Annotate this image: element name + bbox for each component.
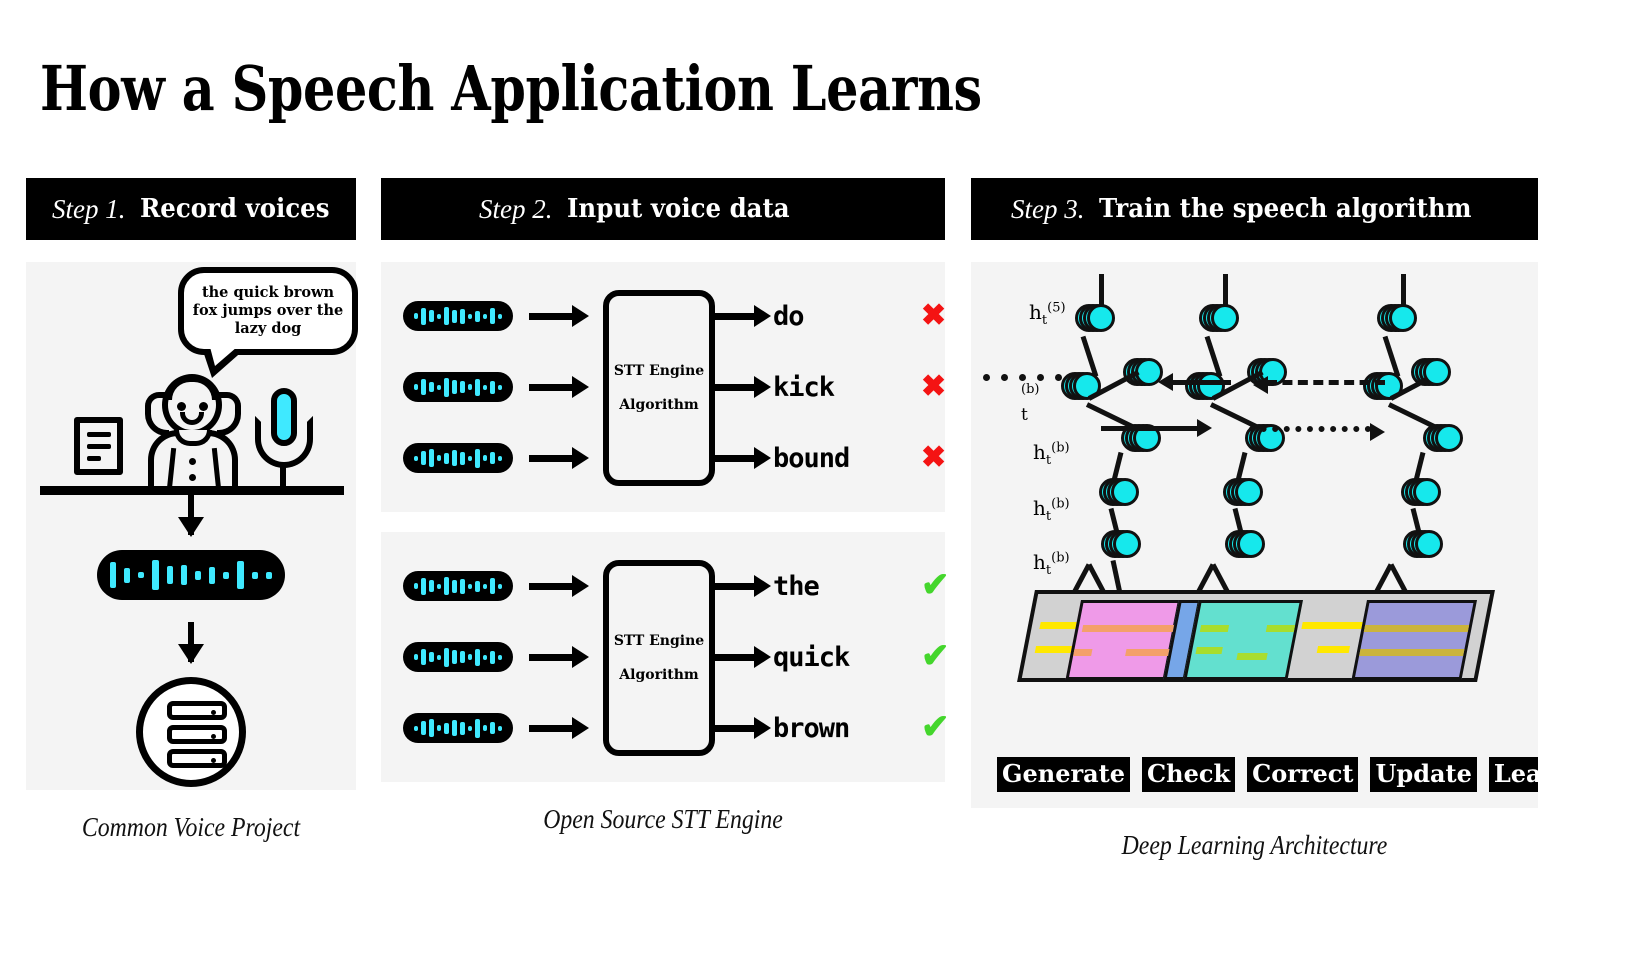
nn-node-cluster — [1185, 372, 1219, 406]
transcribed-word: do — [773, 301, 921, 332]
down-arrow-to-waveform — [188, 495, 194, 535]
forward-dotted-arrow — [1249, 426, 1371, 432]
audio-waveform-icon — [403, 642, 513, 672]
microphone-arc — [255, 416, 313, 468]
status-badge-correct: ✔ — [921, 640, 950, 674]
microphone-icon — [254, 388, 314, 488]
person-speaking-icon — [144, 374, 242, 490]
spectro-line — [1073, 649, 1092, 656]
nn-node-cluster — [1377, 304, 1411, 338]
spectro-line — [1359, 649, 1464, 656]
spectro-line — [1039, 622, 1076, 629]
audio-waveform-icon — [97, 550, 285, 600]
nn-edge — [1383, 336, 1401, 377]
arrow-to-engine — [529, 725, 575, 732]
step-1-caption: Common Voice Project — [46, 812, 336, 843]
layer-label-hb-3: ht(b) — [1033, 550, 1070, 578]
nn-node-cluster — [1101, 530, 1135, 564]
layer-label-hb-1: ht(b) — [1033, 440, 1070, 468]
nn-edge — [1081, 336, 1099, 377]
arrow-to-engine — [529, 384, 575, 391]
audio-waveform-icon — [403, 443, 513, 473]
status-badge-incorrect: ✖ — [921, 372, 946, 402]
audio-waveform-icon — [403, 713, 513, 743]
step-3-header: Step 3. Train the speech algorithm — [971, 178, 1538, 240]
database-drawer-3 — [167, 749, 227, 768]
spectro-segment-pink — [1065, 600, 1181, 680]
arrow-to-output — [711, 455, 757, 462]
training-stage-labels: Generate Check Correct Update Learn — [997, 757, 1538, 792]
training-stage-update: Update — [1370, 757, 1476, 792]
nn-node-cluster — [1223, 478, 1257, 512]
incorrect-transcriptions-panel: STT Engine Algorithm do ✖ — [381, 262, 945, 512]
step-2-number: Step 2. — [479, 194, 553, 225]
arrow-to-engine — [529, 654, 575, 661]
nn-node-cluster — [1225, 530, 1259, 564]
spectro-line — [1125, 649, 1170, 656]
transcribed-word: brown — [773, 713, 921, 744]
arrow-to-output — [711, 583, 757, 590]
transcription-row: quick ✔ — [403, 633, 943, 681]
transcription-row: the ✔ — [403, 562, 943, 610]
database-drawer-2 — [167, 725, 227, 744]
transcribed-word: quick — [773, 642, 921, 673]
audio-waveform-icon — [403, 571, 513, 601]
status-badge-correct: ✔ — [921, 711, 950, 745]
nn-node-cluster — [1401, 478, 1435, 512]
step-2-header: Step 2. Input voice data — [381, 178, 945, 240]
audio-waveform-icon — [403, 301, 513, 331]
arrow-to-output — [711, 654, 757, 661]
nn-edge — [1205, 336, 1223, 377]
nn-node-cluster — [1403, 530, 1437, 564]
step-column-2: Step 2. Input voice data STT Engine Algo… — [381, 178, 945, 835]
arrow-to-engine — [529, 313, 575, 320]
spectro-line — [1236, 653, 1267, 660]
step-3-label: Train the speech algorithm — [1099, 194, 1472, 224]
shirt-button-1 — [189, 458, 196, 465]
training-stage-generate: Generate — [997, 757, 1130, 792]
arrow-to-engine — [529, 583, 575, 590]
step-1-number: Step 1. — [52, 194, 126, 225]
spectro-line — [1266, 625, 1295, 632]
step-2-label: Input voice data — [567, 194, 790, 224]
training-stage-correct: Correct — [1247, 757, 1358, 792]
transcription-row: bound ✖ — [403, 434, 943, 482]
spectro-line — [1364, 625, 1469, 632]
step-1-panel: the quick brown fox jumps over the lazy … — [26, 262, 356, 790]
layer-label-b: (b)t — [1021, 382, 1039, 425]
spectro-line — [1200, 625, 1229, 632]
transcription-row: brown ✔ — [403, 704, 943, 752]
forward-arrow-1 — [1101, 426, 1199, 431]
transcribed-word: the — [773, 571, 921, 602]
recording-scene: the quick brown fox jumps over the lazy … — [26, 262, 356, 512]
nn-node-cluster — [1075, 304, 1109, 338]
step-3-caption: Deep Learning Architecture — [1005, 830, 1504, 861]
down-arrow-to-database — [188, 622, 194, 662]
spectro-line — [1196, 647, 1223, 654]
spectro-segment-teal — [1183, 600, 1303, 680]
nn-node-cluster — [1061, 372, 1095, 406]
step-column-3: Step 3. Train the speech algorithm ht(5)… — [971, 178, 1538, 861]
step-1-label: Record voices — [140, 194, 329, 224]
spectro-segment-purple — [1351, 600, 1477, 680]
backward-arrow-1 — [1171, 380, 1231, 385]
audio-waveform-icon — [403, 372, 513, 402]
page-title: How a Speech Application Learns — [40, 52, 982, 125]
transcribed-word: kick — [773, 372, 921, 403]
transcription-row: do ✖ — [403, 292, 943, 340]
backward-dashed-arrow — [1267, 380, 1385, 385]
nn-edge — [1111, 560, 1123, 592]
speech-bubble-tail-fill — [210, 347, 237, 366]
spectro-line — [1082, 625, 1175, 632]
step-3-number: Step 3. — [1011, 194, 1085, 225]
training-stage-learn: Learn — [1489, 757, 1538, 792]
shirt-button-2 — [189, 474, 196, 481]
arrow-to-output — [711, 725, 757, 732]
document-icon — [74, 417, 123, 475]
training-stage-check: Check — [1142, 757, 1235, 792]
correct-transcriptions-panel: STT Engine Algorithm the ✔ — [381, 532, 945, 782]
layer-label-h5: ht(5) — [1029, 300, 1066, 328]
step-column-1: Step 1. Record voices the quick brown fo… — [26, 178, 356, 843]
spectro-line — [1035, 646, 1072, 653]
speech-bubble: the quick brown fox jumps over the lazy … — [178, 267, 358, 355]
transcription-row: kick ✖ — [403, 363, 943, 411]
step-2-caption: Open Source STT Engine — [415, 804, 911, 835]
spectro-line — [1317, 646, 1350, 653]
arrow-to-output — [711, 384, 757, 391]
speech-bubble-text: the quick brown fox jumps over the lazy … — [184, 284, 352, 337]
status-badge-incorrect: ✖ — [921, 301, 946, 331]
spectrogram-slab — [1017, 590, 1495, 682]
database-drawer-1 — [167, 701, 227, 720]
step-1-header: Step 1. Record voices — [26, 178, 356, 240]
infographic-page: How a Speech Application Learns Step 1. … — [0, 0, 1648, 954]
status-badge-incorrect: ✖ — [921, 443, 946, 473]
arrow-to-engine — [529, 455, 575, 462]
arrow-to-output — [711, 313, 757, 320]
status-badge-correct: ✔ — [921, 569, 950, 603]
spectro-line — [1301, 622, 1362, 629]
desk-line — [40, 486, 344, 495]
nn-node-cluster — [1423, 424, 1457, 458]
nn-node-cluster — [1199, 304, 1233, 338]
nn-node-cluster — [1099, 478, 1133, 512]
nn-node-cluster — [1363, 372, 1397, 406]
eye-left — [177, 402, 186, 411]
layer-label-hb-2: ht(b) — [1033, 496, 1070, 524]
eye-right — [199, 402, 208, 411]
transcribed-word: bound — [773, 443, 921, 474]
step-3-panel: ht(5) (b)t ht(b) ht(b) ht(b) — [971, 262, 1538, 808]
database-icon — [136, 677, 246, 787]
